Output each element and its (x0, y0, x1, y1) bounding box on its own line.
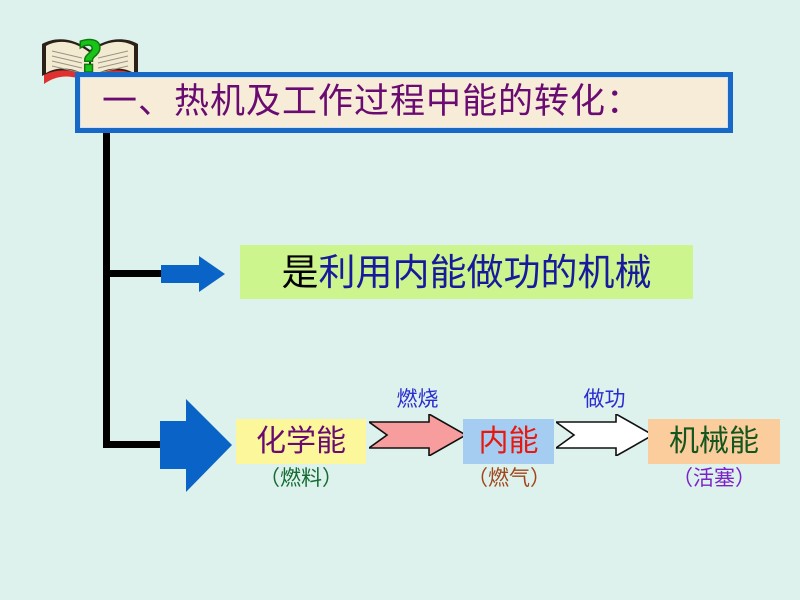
energy-node-internal-sublabel: （燃气） (448, 468, 570, 489)
energy-node-chemical-label: 化学能 (256, 427, 346, 457)
blue-bullet-arrow-1 (161, 256, 225, 292)
connector-vertical-line (103, 133, 110, 448)
energy-node-internal: 内能 (463, 419, 554, 464)
definition-rest: 利用内能做功的机械 (319, 251, 652, 294)
energy-node-mechanical: 机械能 (648, 419, 780, 464)
energy-node-mechanical-label: 机械能 (669, 427, 759, 457)
definition-box: 是利用内能做功的机械 (240, 245, 693, 299)
slide-canvas: ? 一、热机及工作过程中能的转化： 是利用内能做功的机械 化学能 （燃料） 燃烧 (0, 0, 800, 600)
transition-arrow-work (556, 414, 653, 456)
blue-bullet-arrow-2 (160, 399, 232, 492)
energy-node-chemical: 化学能 (236, 419, 366, 464)
definition-first-char: 是 (282, 251, 319, 294)
energy-node-mechanical-sublabel: （活塞） (648, 468, 780, 489)
transition-arrow-burning (369, 414, 466, 456)
transition-label-burning: 燃烧 (369, 389, 466, 410)
energy-node-chemical-sublabel: （燃料） (236, 468, 366, 489)
transition-label-work: 做功 (556, 389, 653, 410)
page-title: 一、热机及工作过程中能的转化： (80, 85, 642, 120)
definition-text: 是利用内能做功的机械 (282, 254, 652, 291)
title-banner: 一、热机及工作过程中能的转化： (75, 72, 733, 133)
energy-node-internal-label: 内能 (479, 427, 539, 457)
